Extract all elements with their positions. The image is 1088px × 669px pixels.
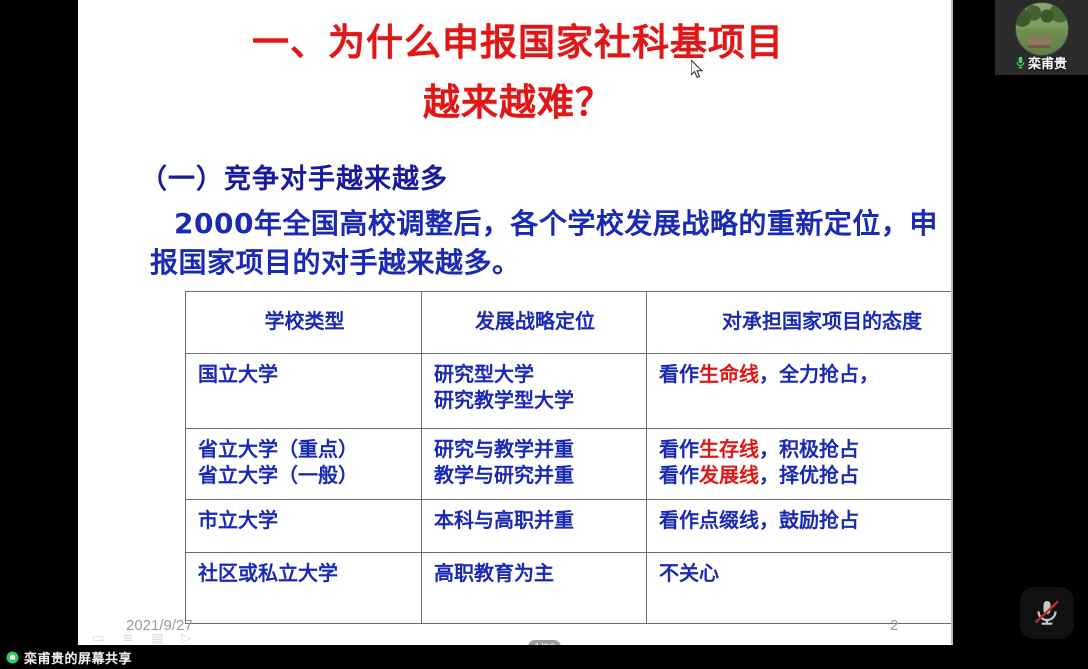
cell-school-type: 社区或私立大学: [186, 553, 422, 624]
avatar-background: [1016, 3, 1068, 28]
highlighted-term: 发展线: [699, 463, 759, 487]
reading-view-icon[interactable]: ▤: [151, 631, 163, 645]
slide-title-line-1: 一、为什么申报国家社科基项目: [118, 24, 918, 63]
slideshow-icon[interactable]: ▷: [182, 631, 192, 645]
microphone-icon: [1016, 56, 1025, 69]
slide-title-line-2: 越来越难？: [118, 84, 918, 123]
cell-strategy: 高职教育为主: [422, 553, 647, 624]
table-header-cell-1: 学校类型: [186, 292, 422, 354]
cell-strategy: 本科与高职并重: [422, 500, 647, 553]
slide-page-number: 2: [890, 617, 898, 634]
cell-school-type: 国立大学: [186, 354, 422, 429]
microphone-muted-icon: [1033, 598, 1061, 628]
highlighted-term: 生存线: [699, 437, 759, 461]
cell-school-type: 市立大学: [186, 500, 422, 553]
shared-slide-surface: 一、为什么申报国家社科基项目 越来越难？ （一）竞争对手越来越多 2000年全国…: [78, 0, 953, 645]
slide-paragraph-text: 2000年全国高校调整后，各个学校发展战略的重新定位，申报国家项目的对手越来越多…: [150, 207, 938, 279]
mouse-cursor: [691, 60, 705, 80]
table-header-cell-2: 发展战略定位: [422, 292, 647, 354]
share-status-label: 栾甫贵的屏幕共享: [24, 648, 132, 667]
slide-paragraph: 2000年全国高校调整后，各个学校发展战略的重新定位，申报国家项目的对手越来越多…: [150, 205, 953, 282]
slide-section-heading: （一）竞争对手越来越多: [140, 157, 448, 196]
table-header-cell-3: 对承担国家项目的态度: [647, 292, 954, 354]
cell-attitude: 看作生存线，积极抢占看作发展线，择优抢占: [647, 429, 954, 500]
meeting-screen-share-window: 一、为什么申报国家社科基项目 越来越难？ （一）竞争对手越来越多 2000年全国…: [0, 0, 1088, 669]
participant-video-tile[interactable]: 栾甫贵: [995, 0, 1088, 75]
cell-strategy: 研究与教学并重教学与研究并重: [422, 429, 647, 500]
cell-school-type: 省立大学（重点）省立大学（一般）: [186, 429, 422, 500]
cell-attitude: 不关心: [647, 553, 954, 624]
table-row: 社区或私立大学高职教育为主不关心: [186, 553, 954, 624]
cell-attitude: 看作生命线，全力抢占，: [647, 354, 954, 429]
avatar-bench: [1027, 36, 1051, 44]
table-row: 省立大学（重点）省立大学（一般）研究与教学并重教学与研究并重看作生存线，积极抢占…: [186, 429, 954, 500]
presentation-view-icons[interactable]: ▭ ≡ ▤ ▷: [92, 631, 192, 645]
cell-attitude: 看作点缀线，鼓励抢占: [647, 500, 954, 553]
screen-share-icon: [6, 651, 19, 664]
participant-name-bar: 栾甫贵: [995, 53, 1088, 72]
outline-view-icon[interactable]: ≡: [122, 631, 133, 645]
participant-name: 栾甫贵: [1028, 53, 1067, 72]
table-row: 市立大学本科与高职并重看作点缀线，鼓励抢占: [186, 500, 954, 553]
table-header-row: 学校类型发展战略定位对承担国家项目的态度: [186, 292, 954, 354]
table-row: 国立大学研究型大学研究教学型大学看作生命线，全力抢占，: [186, 354, 954, 429]
cell-strategy: 研究型大学研究教学型大学: [422, 354, 647, 429]
taskbar: 栾甫贵的屏幕共享: [0, 645, 1088, 669]
normal-view-icon[interactable]: ▭: [92, 631, 104, 645]
avatar: [1016, 3, 1068, 55]
university-strategy-table: 学校类型发展战略定位对承担国家项目的态度国立大学研究型大学研究教学型大学看作生命…: [185, 291, 953, 624]
mic-muted-badge[interactable]: [1020, 587, 1074, 639]
highlighted-term: 生命线: [699, 362, 759, 386]
